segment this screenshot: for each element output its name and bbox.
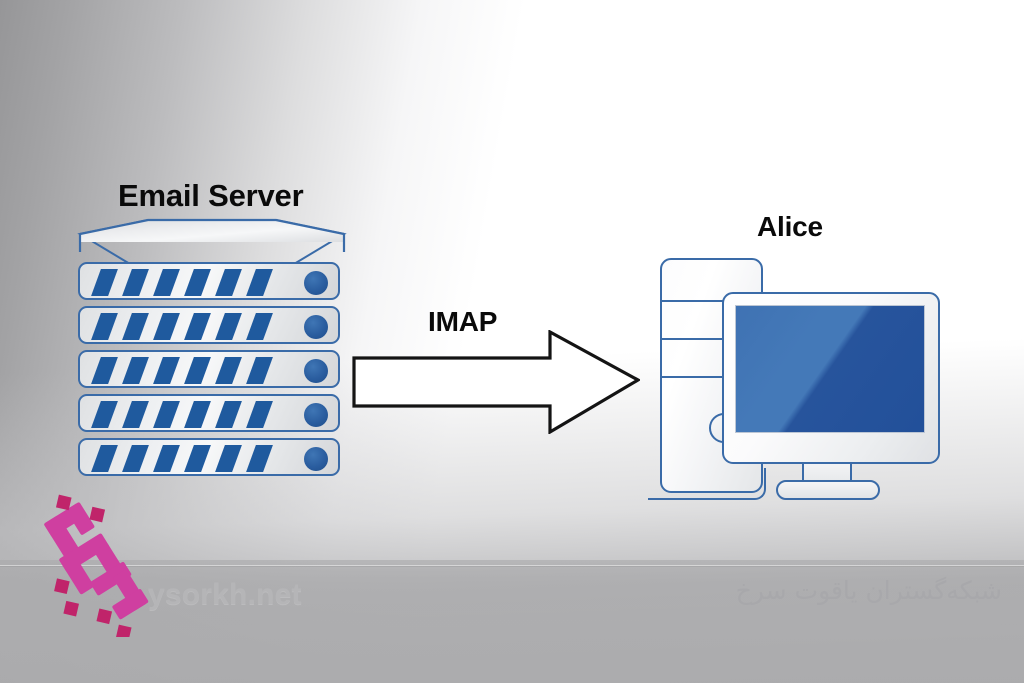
server-drive-slot bbox=[215, 313, 242, 340]
ysorkh-logo bbox=[44, 492, 164, 637]
server-drive-slot bbox=[91, 313, 118, 340]
server-status-led-icon bbox=[304, 315, 328, 339]
email-server-label: Email Server bbox=[118, 178, 303, 214]
server-drive-slot bbox=[184, 269, 211, 296]
monitor-screen bbox=[735, 305, 925, 433]
server-drive-slot bbox=[91, 445, 118, 472]
server-drive-slot bbox=[184, 313, 211, 340]
server-unit bbox=[78, 262, 340, 300]
monitor-stand-base bbox=[776, 480, 880, 500]
server-drive-slot bbox=[122, 269, 149, 296]
server-drive-slot bbox=[184, 357, 211, 384]
alice-label: Alice bbox=[757, 211, 823, 243]
server-drive-slot bbox=[153, 401, 180, 428]
server-drive-slot bbox=[246, 269, 273, 296]
server-drive-slot bbox=[153, 357, 180, 384]
diagram-canvas: Email Server IMAP Alice bbox=[0, 0, 1024, 683]
server-drive-slot bbox=[122, 445, 149, 472]
server-drive-slot bbox=[91, 401, 118, 428]
server-drive-slot bbox=[122, 313, 149, 340]
server-drive-slot bbox=[122, 357, 149, 384]
server-drive-slot bbox=[91, 357, 118, 384]
server-drive-slot bbox=[246, 401, 273, 428]
watermark-persian-text: شبکه‌گستران یاقوت سرخ bbox=[736, 576, 1002, 605]
server-unit bbox=[78, 306, 340, 344]
server-status-led-icon bbox=[304, 403, 328, 427]
alice-computer-icon bbox=[650, 250, 960, 505]
server-drive-slot bbox=[184, 401, 211, 428]
email-server-icon bbox=[62, 218, 362, 508]
monitor-icon bbox=[722, 292, 940, 464]
server-drive-slot bbox=[91, 269, 118, 296]
server-drive-slot bbox=[122, 401, 149, 428]
server-unit bbox=[78, 350, 340, 388]
imap-arrow-icon bbox=[352, 330, 640, 434]
tower-foot-outline bbox=[648, 468, 766, 500]
server-drive-slot bbox=[153, 445, 180, 472]
server-drive-slot bbox=[246, 357, 273, 384]
server-drive-slot bbox=[153, 269, 180, 296]
server-unit bbox=[78, 394, 340, 432]
server-drive-slot bbox=[215, 445, 242, 472]
server-unit bbox=[78, 438, 340, 476]
server-status-led-icon bbox=[304, 271, 328, 295]
server-status-led-icon bbox=[304, 359, 328, 383]
server-drive-slot bbox=[215, 357, 242, 384]
server-drive-slot bbox=[246, 313, 273, 340]
server-drive-slot bbox=[184, 445, 211, 472]
server-drive-slot bbox=[215, 401, 242, 428]
server-drive-slot bbox=[153, 313, 180, 340]
server-status-led-icon bbox=[304, 447, 328, 471]
server-drive-slot bbox=[215, 269, 242, 296]
server-drive-slot bbox=[246, 445, 273, 472]
watermark-domain: ysorkh.net bbox=[148, 578, 302, 612]
